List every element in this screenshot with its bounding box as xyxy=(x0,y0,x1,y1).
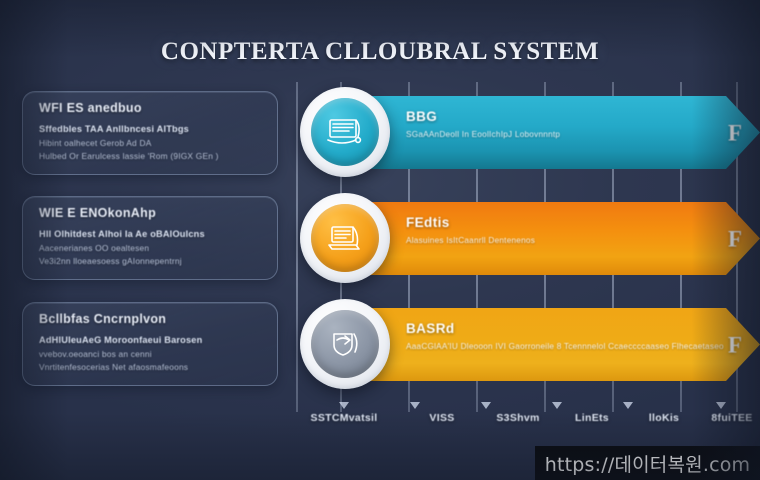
watermark-bar: https://데이터복원.com xyxy=(535,446,760,480)
step-icon-ring-2[interactable] xyxy=(300,193,390,283)
axis-label-4: LinEts xyxy=(575,412,609,424)
infographic-canvas: CONPTERTA CLLOUBRAL SYSTEM WFI ES anedbu… xyxy=(0,0,760,480)
info-card-1-line-1: Sffedbles TAA Anllbncesi AITbgs xyxy=(39,123,263,137)
process-bar-2-subtitle: Alasuines IsItCaanrll Dentenenos xyxy=(406,236,760,245)
axis-tick-6 xyxy=(716,402,726,409)
laptop-icon xyxy=(311,204,379,272)
step-icon-ring-3[interactable] xyxy=(300,299,390,389)
process-bar-1-title: BBG xyxy=(406,109,760,124)
process-bar-1-subtitle: SGaAAnDeoll In EoolIchIpJ Lobovnnntp xyxy=(406,130,760,139)
info-card-3-line-1: AdHIUIeuAeG Moroonfaeui Barosen xyxy=(39,334,263,348)
axis-tick-1 xyxy=(339,402,349,409)
info-card-1-line-3: Hulbed Or Earulcess lassie 'Rom (9IGX GE… xyxy=(39,150,263,164)
process-bar-1[interactable]: BBG SGaAAnDeoll In EoolIchIpJ Lobovnnntp… xyxy=(344,96,760,169)
info-card-2-line-2: Aacenerianes OO oealtesen xyxy=(39,242,263,256)
step-icon-ring-1[interactable] xyxy=(300,87,390,177)
process-bar-3-title: BASRd xyxy=(406,321,760,336)
info-card-1-line-2: Hibint oalhecet Gerob Ad DA xyxy=(39,137,263,151)
info-card-1[interactable]: WFI ES anedbuo Sffedbles TAA Anllbncesi … xyxy=(22,91,278,175)
axis-tick-3 xyxy=(481,402,491,409)
axis-label-2: VISS xyxy=(429,412,454,424)
axis-tick-4 xyxy=(552,402,562,409)
axis-label-1: SSTCMvatsil xyxy=(311,412,378,424)
arrow-tip-glyph-3: F xyxy=(728,333,742,356)
axis: SSTCMvatsil VISS S3Shvm LinEts lloKis 8f… xyxy=(296,402,760,442)
info-card-2-title: WIE E ENOkonAhp xyxy=(39,206,263,220)
gridline-3 xyxy=(296,82,298,412)
info-card-3-title: Bcllbfas Cncrnplvon xyxy=(39,312,263,326)
arrow-tip-glyph-2: F xyxy=(728,227,742,250)
process-bar-3-subtitle: AaaCGlAA'IU Dleooon IVI Gaorroneile 8 Tc… xyxy=(406,342,760,351)
info-card-3[interactable]: Bcllbfas Cncrnplvon AdHIUIeuAeG Moroonfa… xyxy=(22,302,278,386)
info-card-2[interactable]: WIE E ENOkonAhp HII Olhitdest Alhoi Ia A… xyxy=(22,196,278,280)
process-bar-3[interactable]: BASRd AaaCGlAA'IU Dleooon IVI Gaorroneil… xyxy=(344,308,760,381)
axis-tick-2 xyxy=(410,402,420,409)
shield-icon xyxy=(311,310,379,378)
page-title: CONPTERTA CLLOUBRAL SYSTEM xyxy=(0,38,760,66)
info-card-3-line-3: Vnrtitenfesocerias Net afaosmafeoons xyxy=(39,361,263,375)
process-chart: BBG SGaAAnDeoll In EoolIchIpJ Lobovnnntp… xyxy=(296,82,760,412)
axis-label-6: 8fuiTEE xyxy=(711,412,752,424)
monitor-icon xyxy=(311,98,379,166)
axis-label-3: S3Shvm xyxy=(496,412,539,424)
arrow-tip-glyph-1: F xyxy=(728,121,742,144)
process-bar-2-title: FEdtis xyxy=(406,215,760,230)
info-card-3-line-2: vvebov.oeoanci bos an cenni xyxy=(39,348,263,362)
axis-label-5: lloKis xyxy=(649,412,679,424)
process-bar-2[interactable]: FEdtis Alasuines IsItCaanrll Dentenenos … xyxy=(344,202,760,275)
axis-tick-5 xyxy=(623,402,633,409)
info-card-2-line-1: HII Olhitdest Alhoi Ia Ae oBAlOulcns xyxy=(39,228,263,242)
info-card-1-title: WFI ES anedbuo xyxy=(39,101,263,115)
info-card-2-line-3: Ve3i2nn lloeaesoess gAIonnepentrnj xyxy=(39,255,263,269)
watermark-url: https://데이터복원.com xyxy=(545,450,751,477)
